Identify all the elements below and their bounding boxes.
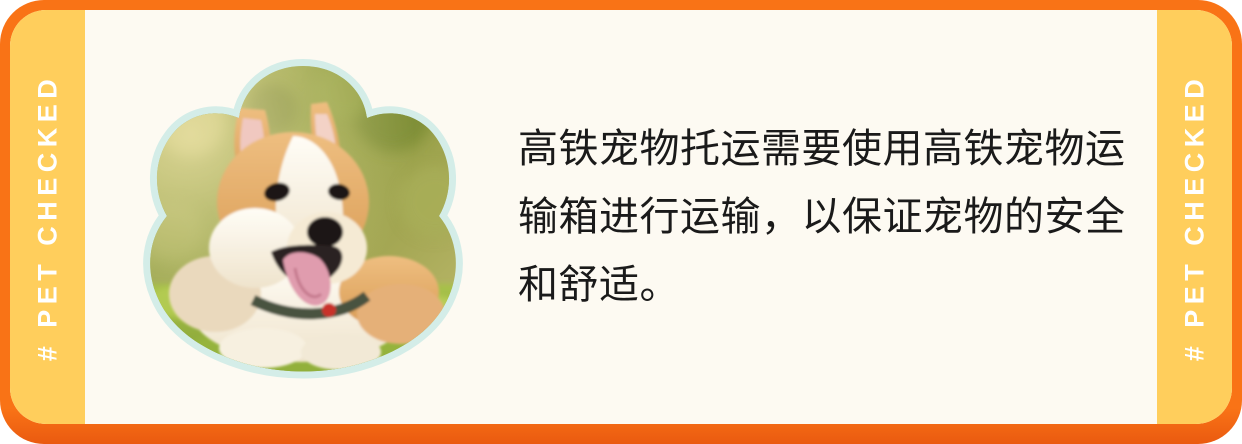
band-left-label: # PET CHECKED <box>34 73 61 361</box>
band-right-label: # PET CHECKED <box>1181 73 1208 361</box>
card-content: 高铁宠物托运需要使用高铁宠物运输箱进行运输，以保证宠物的安全和舒适。 <box>85 10 1157 424</box>
photo-inner <box>143 52 463 382</box>
pet-photo <box>143 52 463 382</box>
paw-masked-photo <box>143 52 463 382</box>
pet-checked-info-card: # PET CHECKED # PET CHECKED <box>0 0 1242 444</box>
card-inner-surface: # PET CHECKED # PET CHECKED <box>10 10 1232 424</box>
info-paragraph: 高铁宠物托运需要使用高铁宠物运输箱进行运输，以保证宠物的安全和舒适。 <box>518 115 1127 319</box>
band-right: # PET CHECKED <box>1157 10 1232 424</box>
card-orange-frame: # PET CHECKED # PET CHECKED <box>0 0 1242 444</box>
band-left: # PET CHECKED <box>10 10 85 424</box>
